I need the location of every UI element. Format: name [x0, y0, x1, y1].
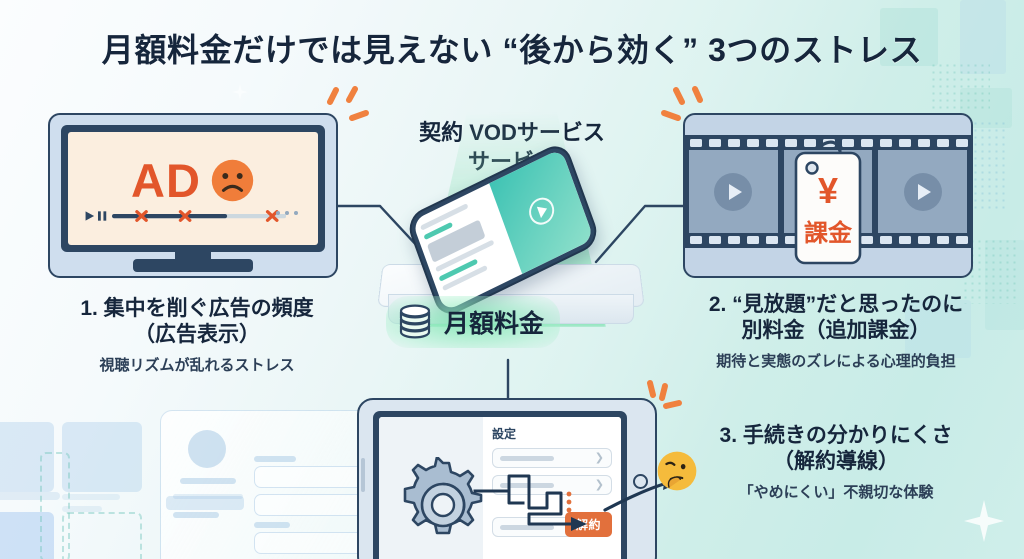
monthly-fee-label: 月額料金: [444, 304, 544, 340]
bg-wireframe-bar: [62, 506, 102, 512]
ad-content: AD: [68, 157, 318, 204]
pause-icon: [98, 211, 101, 220]
page-title: 月額料金だけでは見えない “後から効く” 3つのストレス: [0, 25, 1024, 71]
tv-illustration: AD: [48, 113, 338, 278]
tablet-home-button[interactable]: [633, 474, 648, 489]
sparkle-icon: [964, 500, 1004, 542]
tag-label: 課金: [792, 221, 864, 246]
settings-panel: 設定 ❯ ❯ ❯ 解約: [483, 417, 621, 559]
bg-wireframe-bar: [173, 512, 219, 518]
settings-title: 設定: [492, 425, 612, 442]
settings-row[interactable]: ❯: [492, 475, 612, 495]
bg-wireframe-bar: [166, 496, 244, 510]
play-icon: [86, 211, 95, 220]
chevron-right-icon: ❯: [595, 480, 604, 491]
monthly-fee-badge: 月額料金: [386, 296, 560, 348]
caption-line1: 3. 手続きの分かりにくさ: [668, 423, 1004, 449]
caption-block-2: 2. “見放題”だと思ったのに 別料金（追加課金） 期待と実態のズレによる心理的…: [668, 292, 1004, 371]
caption-line2: （広告表示）: [32, 322, 362, 348]
bg-wireframe-bar: [254, 522, 290, 528]
sparkle-icon: [232, 84, 248, 100]
tv-player-controls: [84, 209, 286, 223]
tablet-illustration: 設定 ❯ ❯ ❯ 解約: [357, 398, 657, 559]
price-tag-icon: ¥ 課金: [792, 137, 864, 267]
bg-film-outline-icon: [40, 452, 70, 559]
bg-wireframe-bar: [180, 478, 236, 484]
yen-symbol: ¥: [792, 173, 864, 209]
caption-line1: 1. 集中を削ぐ広告の頻度: [32, 296, 362, 322]
play-circle-icon: [526, 193, 558, 229]
sad-face-icon: [210, 158, 255, 203]
caption-line2: （解約導線）: [668, 449, 1004, 475]
settings-row[interactable]: ❯: [492, 448, 612, 468]
phone-pedestal-illustration: 月額料金: [372, 170, 652, 355]
caption-line1: 2. “見放題”だと思ったのに: [668, 292, 1004, 318]
play-circle-icon: [904, 173, 942, 211]
tv-stand: [133, 259, 253, 272]
tv-status-leds: [276, 211, 298, 215]
gear-icon: [395, 457, 491, 553]
tv-bezel: AD: [61, 125, 325, 252]
caption-block-3: 3. 手続きの分かりにくさ （解約導線） 「やめにくい」不親切な体験: [668, 423, 1004, 502]
film-frame-cell: [689, 150, 778, 233]
bg-wireframe-bar: [254, 456, 296, 462]
ad-label: AD: [131, 157, 201, 204]
settings-sidebar: [379, 417, 483, 559]
tablet-bezel: 設定 ❯ ❯ ❯ 解約: [373, 411, 627, 559]
caption-subtext: 期待と実態のズレによる心理的負担: [668, 350, 1004, 371]
play-circle-icon: [714, 173, 752, 211]
chevron-right-icon: ❯: [595, 453, 604, 464]
film-strip-illustration: ¥ 課金: [683, 113, 973, 278]
tablet-screen: 設定 ❯ ❯ ❯ 解約: [379, 417, 621, 559]
coin-stack-icon: [396, 302, 434, 342]
caption-block-1: 1. 集中を削ぐ広告の頻度 （広告表示） 視聴リズムが乱れるストレス: [32, 296, 362, 375]
film-frame-cell: [878, 150, 967, 233]
bg-wireframe-bar: [0, 492, 60, 500]
tv-screen: AD: [68, 132, 318, 245]
bg-avatar-icon: [188, 430, 226, 468]
bg-wireframe-bar: [62, 494, 120, 500]
bg-film-outline-icon: [62, 512, 142, 559]
caption-subtext: 「やめにくい」不親切な体験: [668, 481, 1004, 502]
caption-subtext: 視聴リズムが乱れるストレス: [32, 354, 362, 375]
caption-line2: 別料金（追加課金）: [668, 318, 1004, 344]
infographic-canvas: 月額料金だけでは見えない “後から効く” 3つのストレス AD: [0, 0, 1024, 559]
cancel-subscription-button[interactable]: 解約: [565, 512, 612, 537]
bg-wireframe-thumb: [0, 422, 54, 492]
bg-wireframe-thumb: [0, 512, 54, 559]
bg-wireframe-thumb: [62, 422, 142, 492]
bg-wireframe-bar: [173, 494, 243, 499]
tablet-volume-button[interactable]: [361, 458, 365, 492]
